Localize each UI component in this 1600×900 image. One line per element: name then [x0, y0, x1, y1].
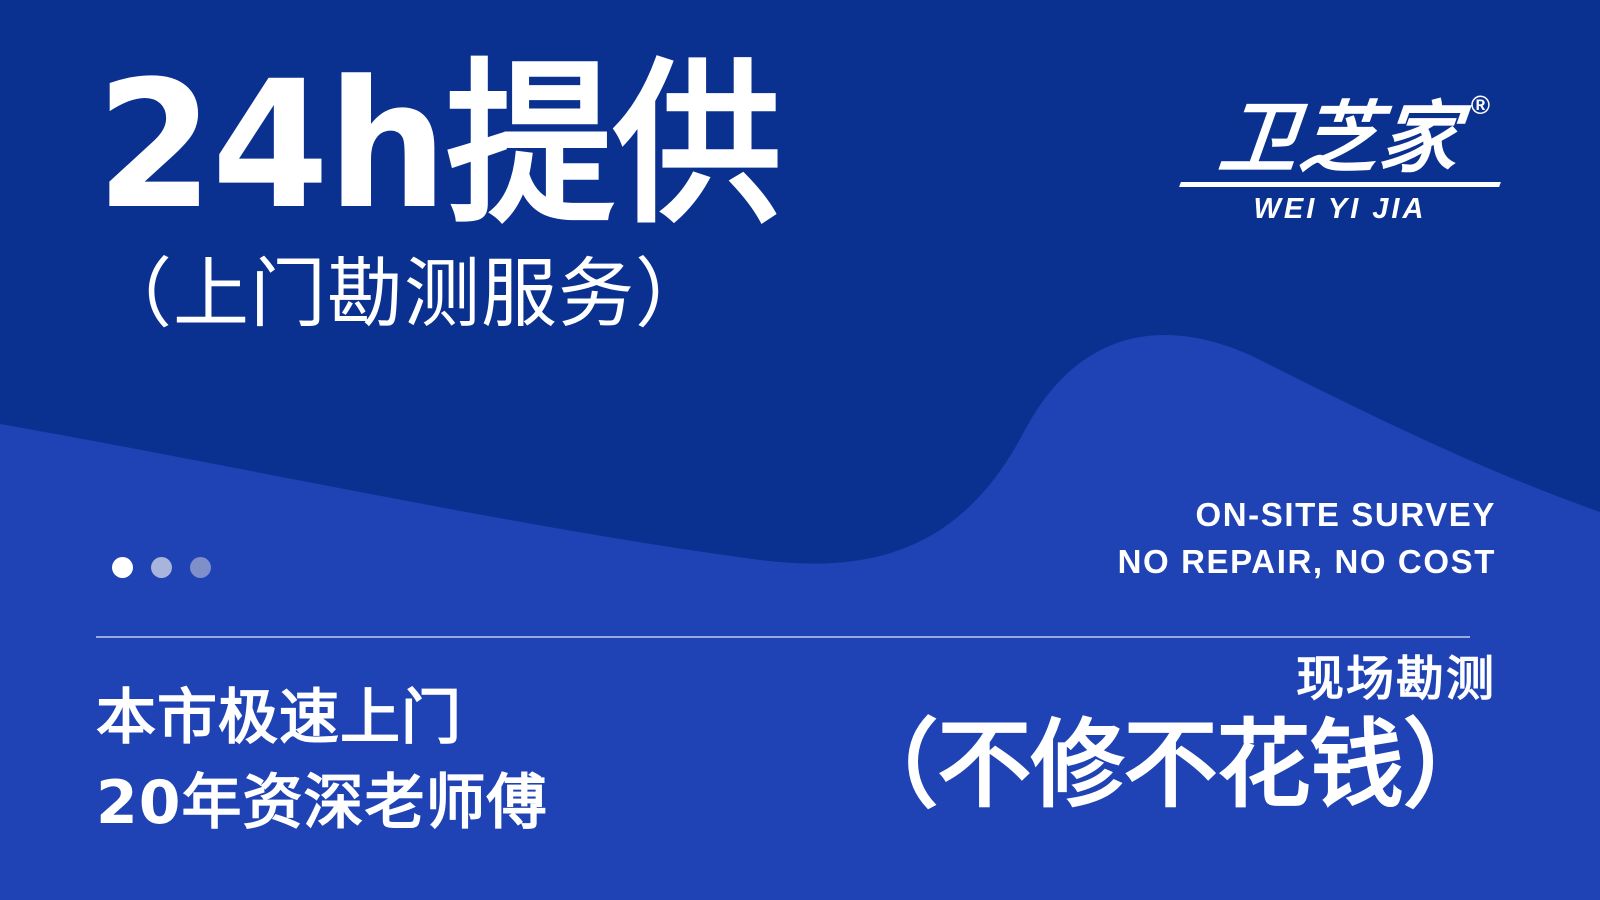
bottom-left-line-2: 20年资深老师傅 [96, 761, 548, 846]
logo-chinese-name: 卫芝家 [1216, 100, 1464, 178]
bottom-left-line-1: 本市极速上门 [96, 676, 548, 761]
registered-trademark-icon: ® [1471, 90, 1490, 121]
decorative-dots [112, 557, 211, 578]
logo-mark: 卫芝家 ® [1220, 100, 1460, 178]
promo-banner: 24h提供 （上门勘测服务） 卫芝家 ® WEI YI JIA ON-SITE … [0, 0, 1600, 900]
logo-underline-rule [1179, 182, 1501, 187]
horizontal-divider [96, 636, 1470, 638]
headline-sub: （上门勘测服务） [96, 256, 996, 332]
english-tagline: ON-SITE SURVEY NO REPAIR, NO COST [1118, 492, 1496, 586]
bottom-left-text: 本市极速上门 20年资深老师傅 [96, 676, 548, 846]
brand-logo[interactable]: 卫芝家 ® WEI YI JIA [1180, 100, 1500, 226]
tagline-line-2: NO REPAIR, NO COST [1118, 539, 1496, 586]
dot-active [112, 557, 133, 578]
headline-block: 24h提供 （上门勘测服务） [96, 58, 996, 332]
bottom-right-small-line: 现场勘测 [831, 655, 1496, 703]
tagline-line-1: ON-SITE SURVEY [1118, 492, 1496, 539]
bottom-right-big-line: （不修不花钱） [844, 717, 1496, 813]
logo-english-name: WEI YI JIA [1180, 193, 1500, 226]
headline-main: 24h提供 [96, 58, 960, 234]
dot-dim [190, 557, 211, 578]
dot-mid [151, 557, 172, 578]
bottom-right-text: 现场勘测 （不修不花钱） [831, 655, 1496, 813]
